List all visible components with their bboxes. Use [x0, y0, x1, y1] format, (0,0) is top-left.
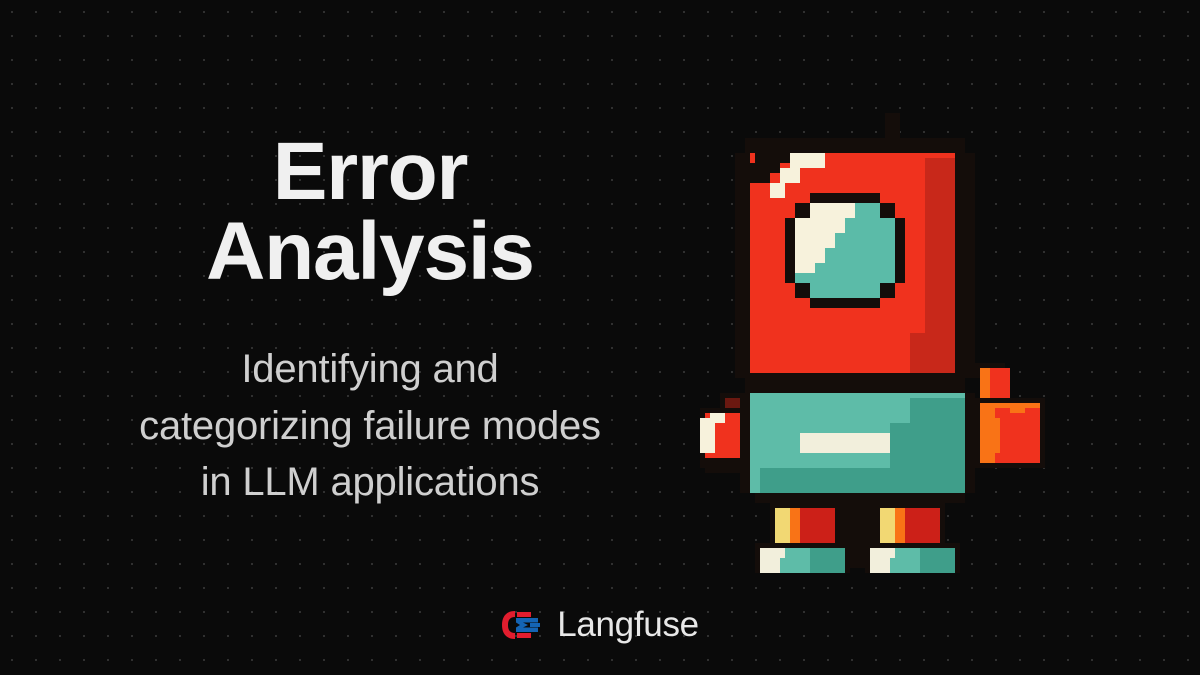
page-subtitle: Identifying and categorizing failure mod…	[0, 341, 740, 511]
text-block: Error Analysis Identifying and categoriz…	[0, 132, 740, 511]
brand-lockup: Langfuse	[0, 605, 1200, 645]
slide-canvas: Error Analysis Identifying and categoriz…	[0, 0, 1200, 675]
langfuse-logo-icon	[501, 608, 541, 642]
page-title: Error Analysis	[0, 132, 740, 293]
brand-name: Langfuse	[557, 605, 699, 645]
pixel-robot-illustration	[690, 108, 1060, 573]
